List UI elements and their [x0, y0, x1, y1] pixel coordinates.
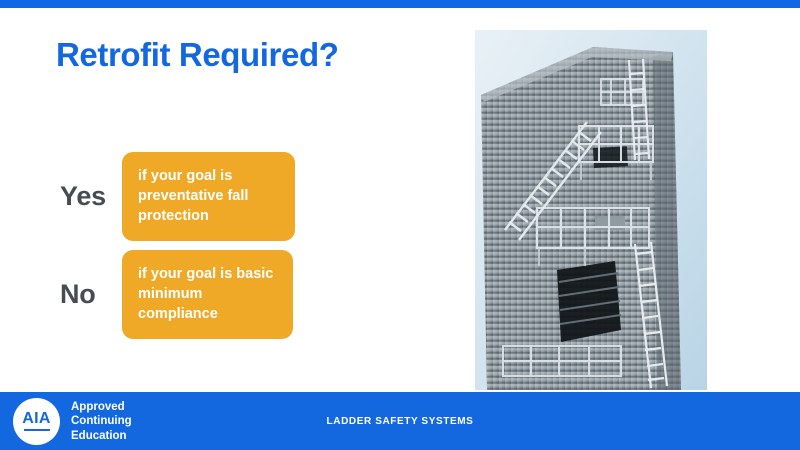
aia-logo: AIA Approved Continuing Education [13, 398, 132, 445]
building-ladder-illustration [475, 30, 707, 390]
answer-label-yes: Yes [60, 181, 122, 212]
answer-callout-no: if your goal is basic minimum compliance [122, 250, 293, 339]
page-title: Retrofit Required? [56, 36, 338, 74]
answer-row-no: No if your goal is basic minimum complia… [60, 250, 293, 339]
answer-row-yes: Yes if your goal is preventative fall pr… [60, 152, 295, 241]
aia-logo-line-3: Education [71, 429, 132, 443]
building-ladder-photo [475, 30, 707, 390]
aia-logo-line-2: Continuing [71, 414, 132, 428]
aia-logo-line-1: Approved [71, 400, 132, 414]
answer-label-no: No [60, 279, 122, 310]
aia-logo-wordmark: Approved Continuing Education [71, 400, 132, 443]
answer-callout-yes: if your goal is preventative fall protec… [122, 152, 295, 241]
aia-seal-label: AIA [22, 411, 50, 427]
top-accent-bar [0, 0, 800, 8]
aia-seal-icon: AIA [13, 398, 60, 445]
slide-canvas: Retrofit Required? Yes if your goal is p… [0, 0, 800, 450]
aia-seal-rule [24, 429, 50, 431]
